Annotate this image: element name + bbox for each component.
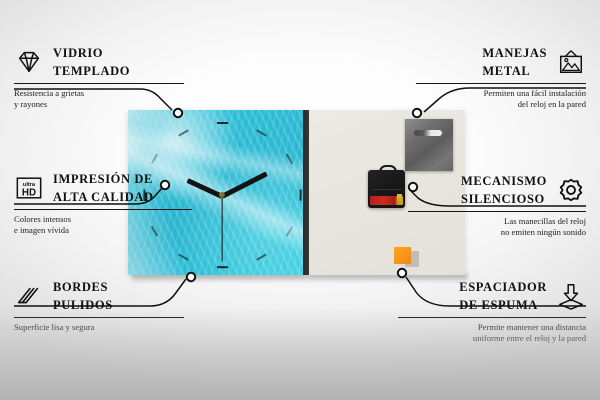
battery-contact <box>397 194 402 205</box>
clock-movement <box>368 170 405 208</box>
callout-impresion-alta-calidad: ultra HD IMPRESIÓN DE ALTA CALIDAD Color… <box>14 170 192 235</box>
clock-tick <box>299 189 301 200</box>
foam-spacer-icon <box>556 282 586 310</box>
callout-divider <box>398 317 586 318</box>
callout-desc-line1: Resistencia a grietas <box>14 88 184 99</box>
infographic-canvas: VIDRIO TEMPLADO Resistencia a grietas y … <box>0 0 600 400</box>
callout-title: MANEJAS METAL <box>482 44 547 80</box>
callout-desc-line1: Superficie lisa y segura <box>14 322 184 333</box>
callout-bordes-pulidos: BORDES PULIDOS Superficie lisa y segura <box>14 278 184 333</box>
clock-second-hand <box>221 196 222 262</box>
clock-tick <box>256 129 267 136</box>
callout-desc-line1: Permite mantener una distancia <box>398 322 586 333</box>
callout-header: MANEJAS METAL <box>416 44 586 80</box>
gear-icon <box>556 176 586 204</box>
callout-header: ultra HD IMPRESIÓN DE ALTA CALIDAD <box>14 170 192 206</box>
metal-hanger-plate <box>405 119 453 171</box>
callout-desc-line2: e imagen vívida <box>14 225 192 236</box>
picture-frame-icon <box>556 48 586 76</box>
callout-desc-line2: y rayones <box>14 99 184 110</box>
callout-espaciador-de-espuma: ESPACIADOR DE ESPUMA Permite mantener un… <box>398 278 586 343</box>
callout-title: MECANISMO SILENCIOSO <box>461 172 547 208</box>
callout-divider <box>14 83 184 84</box>
callout-title: IMPRESIÓN DE ALTA CALIDAD <box>53 170 154 206</box>
clock-center-cap <box>219 192 225 198</box>
callout-header: VIDRIO TEMPLADO <box>14 44 184 80</box>
clock-tick <box>217 266 228 268</box>
callout-divider <box>416 83 586 84</box>
callout-header: BORDES PULIDOS <box>14 278 184 314</box>
callout-desc-line2: uniforme entre el reloj y la pared <box>398 333 586 344</box>
foam-spacer <box>394 247 411 264</box>
callout-divider <box>14 209 192 210</box>
callout-divider <box>14 317 184 318</box>
svg-text:HD: HD <box>22 187 36 198</box>
callout-divider <box>408 211 586 212</box>
clock-tick <box>256 254 267 261</box>
callout-title: VIDRIO TEMPLADO <box>53 44 130 80</box>
clock-tick <box>217 122 228 124</box>
polished-edges-icon <box>14 282 44 310</box>
callout-desc-line1: Colores intensos <box>14 214 192 225</box>
ultra-hd-icon: ultra HD <box>14 174 44 202</box>
hanger-slot <box>414 130 442 136</box>
callout-manejas-metal: MANEJAS METAL Permiten una fácil instala… <box>416 44 586 109</box>
clock-tick <box>286 226 293 237</box>
callout-vidrio-templado: VIDRIO TEMPLADO Resistencia a grietas y … <box>14 44 184 109</box>
callout-desc-line2: del reloj en la pared <box>416 99 586 110</box>
clock-tick <box>178 129 189 136</box>
clock-tick <box>178 254 189 261</box>
callout-mecanismo-silencioso: MECANISMO SILENCIOSO Las manecillas del … <box>408 172 586 237</box>
callout-desc-line1: Las manecillas del reloj <box>408 216 586 227</box>
callout-title: ESPACIADOR DE ESPUMA <box>459 278 547 314</box>
clock-tick <box>286 154 293 165</box>
callout-title: BORDES PULIDOS <box>53 278 113 314</box>
diamond-icon <box>14 48 44 76</box>
callout-header: MECANISMO SILENCIOSO <box>408 172 586 208</box>
callout-desc-line2: no emiten ningún sonido <box>408 227 586 238</box>
callout-header: ESPACIADOR DE ESPUMA <box>398 278 586 314</box>
clock-tick <box>151 154 158 165</box>
movement-seam <box>372 189 401 190</box>
callout-desc-line1: Permiten una fácil instalación <box>416 88 586 99</box>
